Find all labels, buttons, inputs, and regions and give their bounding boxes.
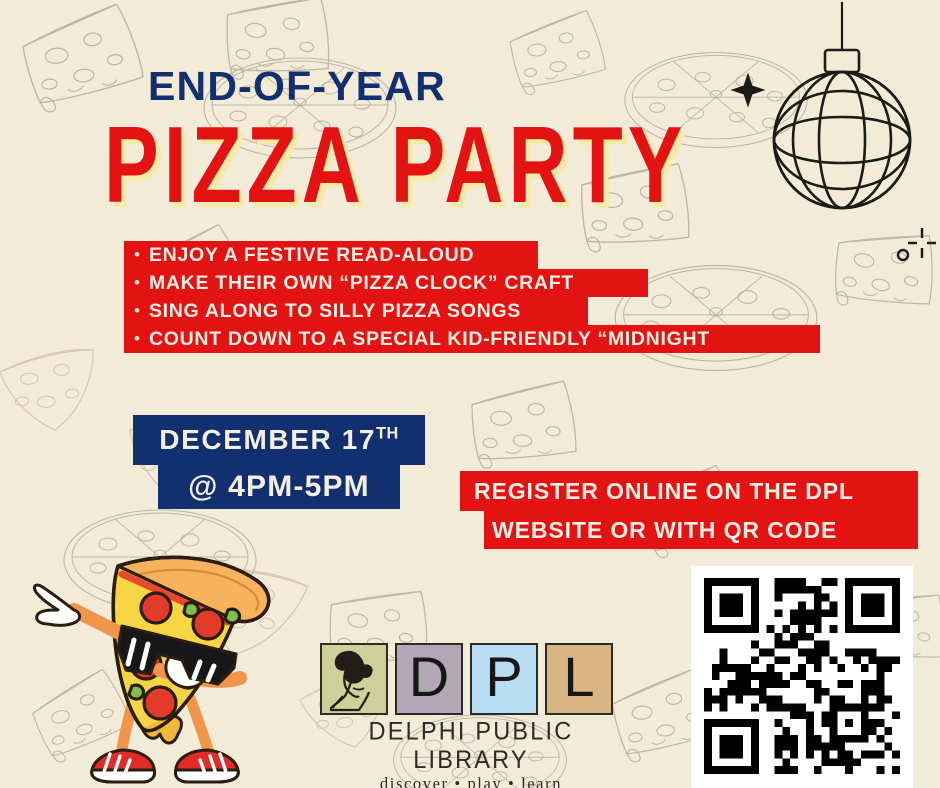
qr-code-panel[interactable] <box>691 566 913 788</box>
kicker-heading: END-OF-YEAR <box>148 66 446 107</box>
bullet-dot-icon: • <box>134 246 140 263</box>
registration-callout: REGISTER ONLINE ON THE DPL WEBSITE OR WI… <box>460 471 918 549</box>
event-time-bar: @ 4PM-5PM <box>158 465 400 509</box>
library-name: DELPHI PUBLIC LIBRARY <box>320 718 622 775</box>
letter-l-tile: L <box>545 643 613 715</box>
letter-p: P <box>485 649 522 705</box>
activity-bullet-text: SING ALONG TO SILLY PIZZA SONGS <box>149 300 521 323</box>
bullet-dot-icon: • <box>134 274 140 291</box>
activity-bullet-row: •SING ALONG TO SILLY PIZZA SONGS <box>124 297 588 325</box>
portrait-tile <box>320 643 388 715</box>
activity-bullet-row: •MAKE THEIR OWN “PIZZA CLOCK” CRAFT <box>124 269 648 297</box>
activity-bullet-row: •COUNT DOWN TO A SPECIAL KID-FRIENDLY “M… <box>124 325 820 353</box>
registration-line-2-text: WEBSITE OR WITH QR CODE <box>492 517 837 544</box>
bullet-dot-icon: • <box>134 330 140 347</box>
logo-tiles: D P L <box>320 643 622 715</box>
qr-code-image[interactable] <box>704 578 900 774</box>
event-date-text: DECEMBER 17TH <box>159 424 398 456</box>
activity-bullet-text: ENJOY A FESTIVE READ-ALOUD <box>149 244 474 267</box>
bullet-dot-icon: • <box>134 302 140 319</box>
library-tagline: discover • play • learn <box>320 774 622 788</box>
letter-p-tile: P <box>470 643 538 715</box>
event-date-bar: DECEMBER 17TH <box>133 415 425 465</box>
disco-ball-icon <box>718 0 940 268</box>
registration-line-2-bar: WEBSITE OR WITH QR CODE <box>484 511 918 549</box>
woman-portrait-icon <box>323 646 385 712</box>
event-date-block: DECEMBER 17TH @ 4PM-5PM <box>133 415 425 509</box>
page-title: PIZZA PARTY <box>104 112 687 220</box>
activity-bullet-row: •ENJOY A FESTIVE READ-ALOUD <box>124 241 538 269</box>
date-ordinal-suffix: TH <box>376 425 399 443</box>
activity-bullet-text: MAKE THEIR OWN “PIZZA CLOCK” CRAFT <box>149 272 574 295</box>
letter-d-tile: D <box>395 643 463 715</box>
activity-bullet-text: COUNT DOWN TO A SPECIAL KID-FRIENDLY “MI… <box>149 328 710 351</box>
registration-line-1-text: REGISTER ONLINE ON THE DPL <box>474 478 854 505</box>
activity-bullet-list: •ENJOY A FESTIVE READ-ALOUD•MAKE THEIR O… <box>124 241 820 353</box>
event-time-text: @ 4PM-5PM <box>188 470 370 504</box>
dpl-logo: D P L DELPHI PUBLIC LIBRARY discover • p… <box>320 643 622 788</box>
letter-l: L <box>563 649 594 705</box>
letter-d: D <box>409 649 449 705</box>
registration-line-1-bar: REGISTER ONLINE ON THE DPL <box>460 471 918 511</box>
dabbing-pizza-mascot <box>22 548 304 788</box>
poster-canvas: END-OF-YEAR PIZZA PARTY •ENJOY A FESTIVE… <box>0 0 940 788</box>
